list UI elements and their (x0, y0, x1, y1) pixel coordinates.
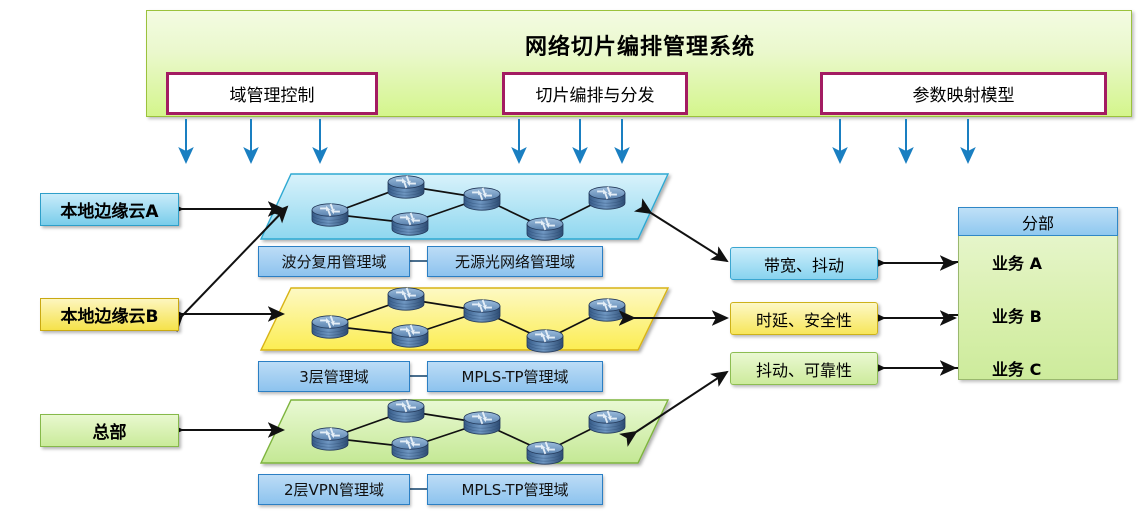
network-plane-ip (261, 287, 668, 352)
qos-bandwidth-jitter[interactable]: 带宽、抖动 (730, 247, 878, 280)
network-plane-l2vpn (261, 399, 668, 464)
domain-link (410, 261, 427, 489)
label-local-edge-cloud-b[interactable]: 本地边缘云B (40, 298, 179, 331)
router-icon (527, 217, 563, 240)
router-icon (464, 299, 500, 322)
router-icon (388, 287, 424, 310)
router-icon (527, 441, 563, 464)
router-icon (527, 329, 563, 352)
orchestration-banner: 网络切片编排管理系统 域管理控制 切片编排与分发 参数映射模型 (146, 10, 1132, 117)
router-node (312, 287, 625, 352)
router-icon (312, 203, 348, 226)
qos-latency-security[interactable]: 时延、安全性 (730, 302, 878, 335)
domain-layer3[interactable]: 3层管理域 (258, 361, 410, 392)
router-icon (392, 212, 428, 235)
label-headquarters[interactable]: 总部 (40, 414, 179, 447)
router-icon (312, 427, 348, 450)
router-node (312, 399, 625, 464)
router-icon (464, 411, 500, 434)
router-icon (589, 298, 625, 321)
domain-layer2-vpn[interactable]: 2层VPN管理域 (258, 474, 410, 505)
module-slice-orchestration[interactable]: 切片编排与分发 (502, 72, 688, 115)
domain-wdm[interactable]: 波分复用管理域 (258, 246, 410, 277)
router-icon (589, 410, 625, 433)
router-icon (388, 399, 424, 422)
router-icon (464, 187, 500, 210)
service-item-c[interactable]: 业务 C (992, 357, 1092, 379)
services-panel-header: 分部 (958, 207, 1118, 236)
router-icon (388, 175, 424, 198)
router-icon (589, 186, 625, 209)
qos-jitter-reliability[interactable]: 抖动、可靠性 (730, 352, 878, 385)
service-item-a[interactable]: 业务 A (992, 251, 1092, 273)
domain-mpls-tp-lower[interactable]: MPLS-TP管理域 (427, 474, 603, 505)
domain-pon[interactable]: 无源光网络管理域 (427, 246, 603, 277)
page-title: 网络切片编排管理系统 (147, 29, 1133, 61)
diagram-canvas: 网络切片编排管理系统 域管理控制 切片编排与分发 参数映射模型 (0, 0, 1141, 523)
banner-down-arrows (186, 119, 968, 162)
label-local-edge-cloud-a[interactable]: 本地边缘云A (40, 193, 179, 226)
module-parameter-mapping[interactable]: 参数映射模型 (820, 72, 1107, 115)
router-node (312, 175, 625, 240)
module-domain-management[interactable]: 域管理控制 (166, 72, 378, 115)
service-item-b[interactable]: 业务 B (992, 304, 1092, 326)
domain-mpls-tp-upper[interactable]: MPLS-TP管理域 (427, 361, 603, 392)
router-icon (392, 324, 428, 347)
router-icon (312, 315, 348, 338)
router-icon (392, 436, 428, 459)
network-plane-optical (261, 174, 668, 240)
